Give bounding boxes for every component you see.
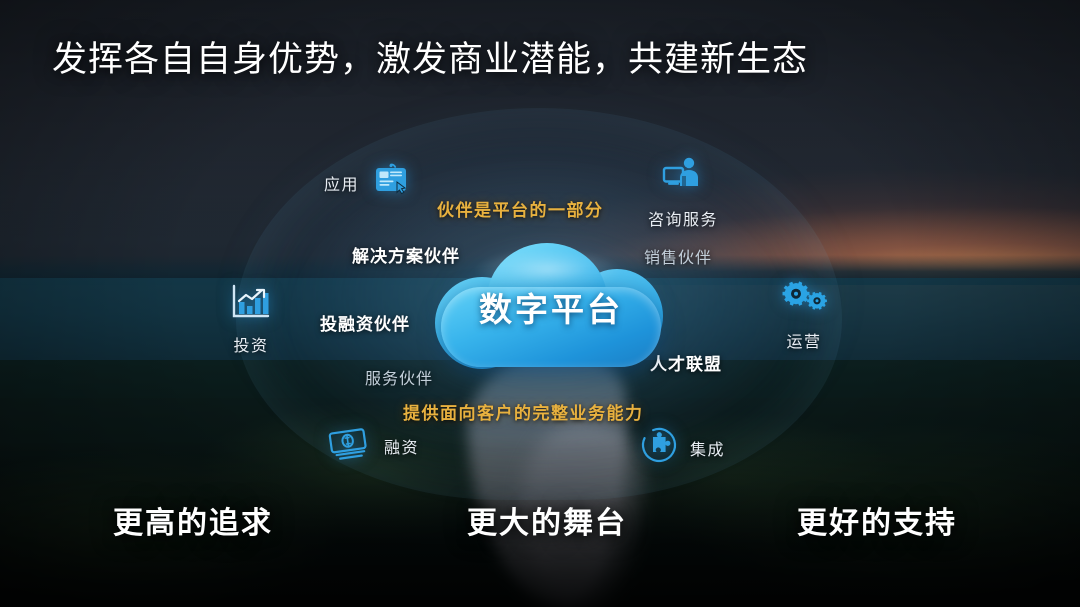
application-screen-icon	[369, 158, 413, 207]
node-label-financing: 融资	[384, 434, 419, 458]
puzzle-piece-icon	[638, 424, 680, 471]
partner-label-investment: 投融资伙伴	[320, 310, 410, 335]
node-consulting[interactable]: 咨询服务	[648, 155, 718, 230]
presentation-slide: 发挥各自自身优势，激发商业潜能，共建新生态 伙伴是平台的一部分 提供面向客户的完…	[0, 0, 1080, 607]
consultant-person-icon	[659, 155, 707, 202]
cloud-label: 数字平台	[435, 243, 667, 371]
node-label-operations: 运营	[786, 328, 821, 352]
gears-icon	[778, 280, 830, 325]
node-integration[interactable]: 集成	[638, 424, 725, 471]
node-label-integration: 集成	[690, 436, 725, 460]
node-application[interactable]: 应用	[324, 158, 413, 207]
node-label-consulting: 咨询服务	[648, 206, 718, 230]
footer-heading-2: 更大的舞台	[467, 498, 627, 542]
footer-heading-3: 更好的支持	[797, 498, 957, 542]
node-label-investment: 投资	[233, 332, 268, 356]
accent-text-bottom: 提供面向客户的完整业务能力	[403, 399, 644, 424]
node-operations[interactable]: 运营	[778, 280, 830, 352]
bar-chart-growth-icon	[228, 282, 274, 329]
slide-title: 发挥各自自身优势，激发商业潜能，共建新生态	[52, 38, 808, 82]
node-label-application: 应用	[324, 171, 359, 195]
banknotes-money-icon	[326, 424, 374, 467]
node-financing[interactable]: 融资	[326, 424, 419, 467]
footer-heading-1: 更高的追求	[113, 498, 273, 542]
node-investment[interactable]: 投资	[228, 282, 274, 356]
digital-platform-cloud: 数字平台	[435, 243, 667, 371]
accent-text-top: 伙伴是平台的一部分	[437, 196, 604, 221]
